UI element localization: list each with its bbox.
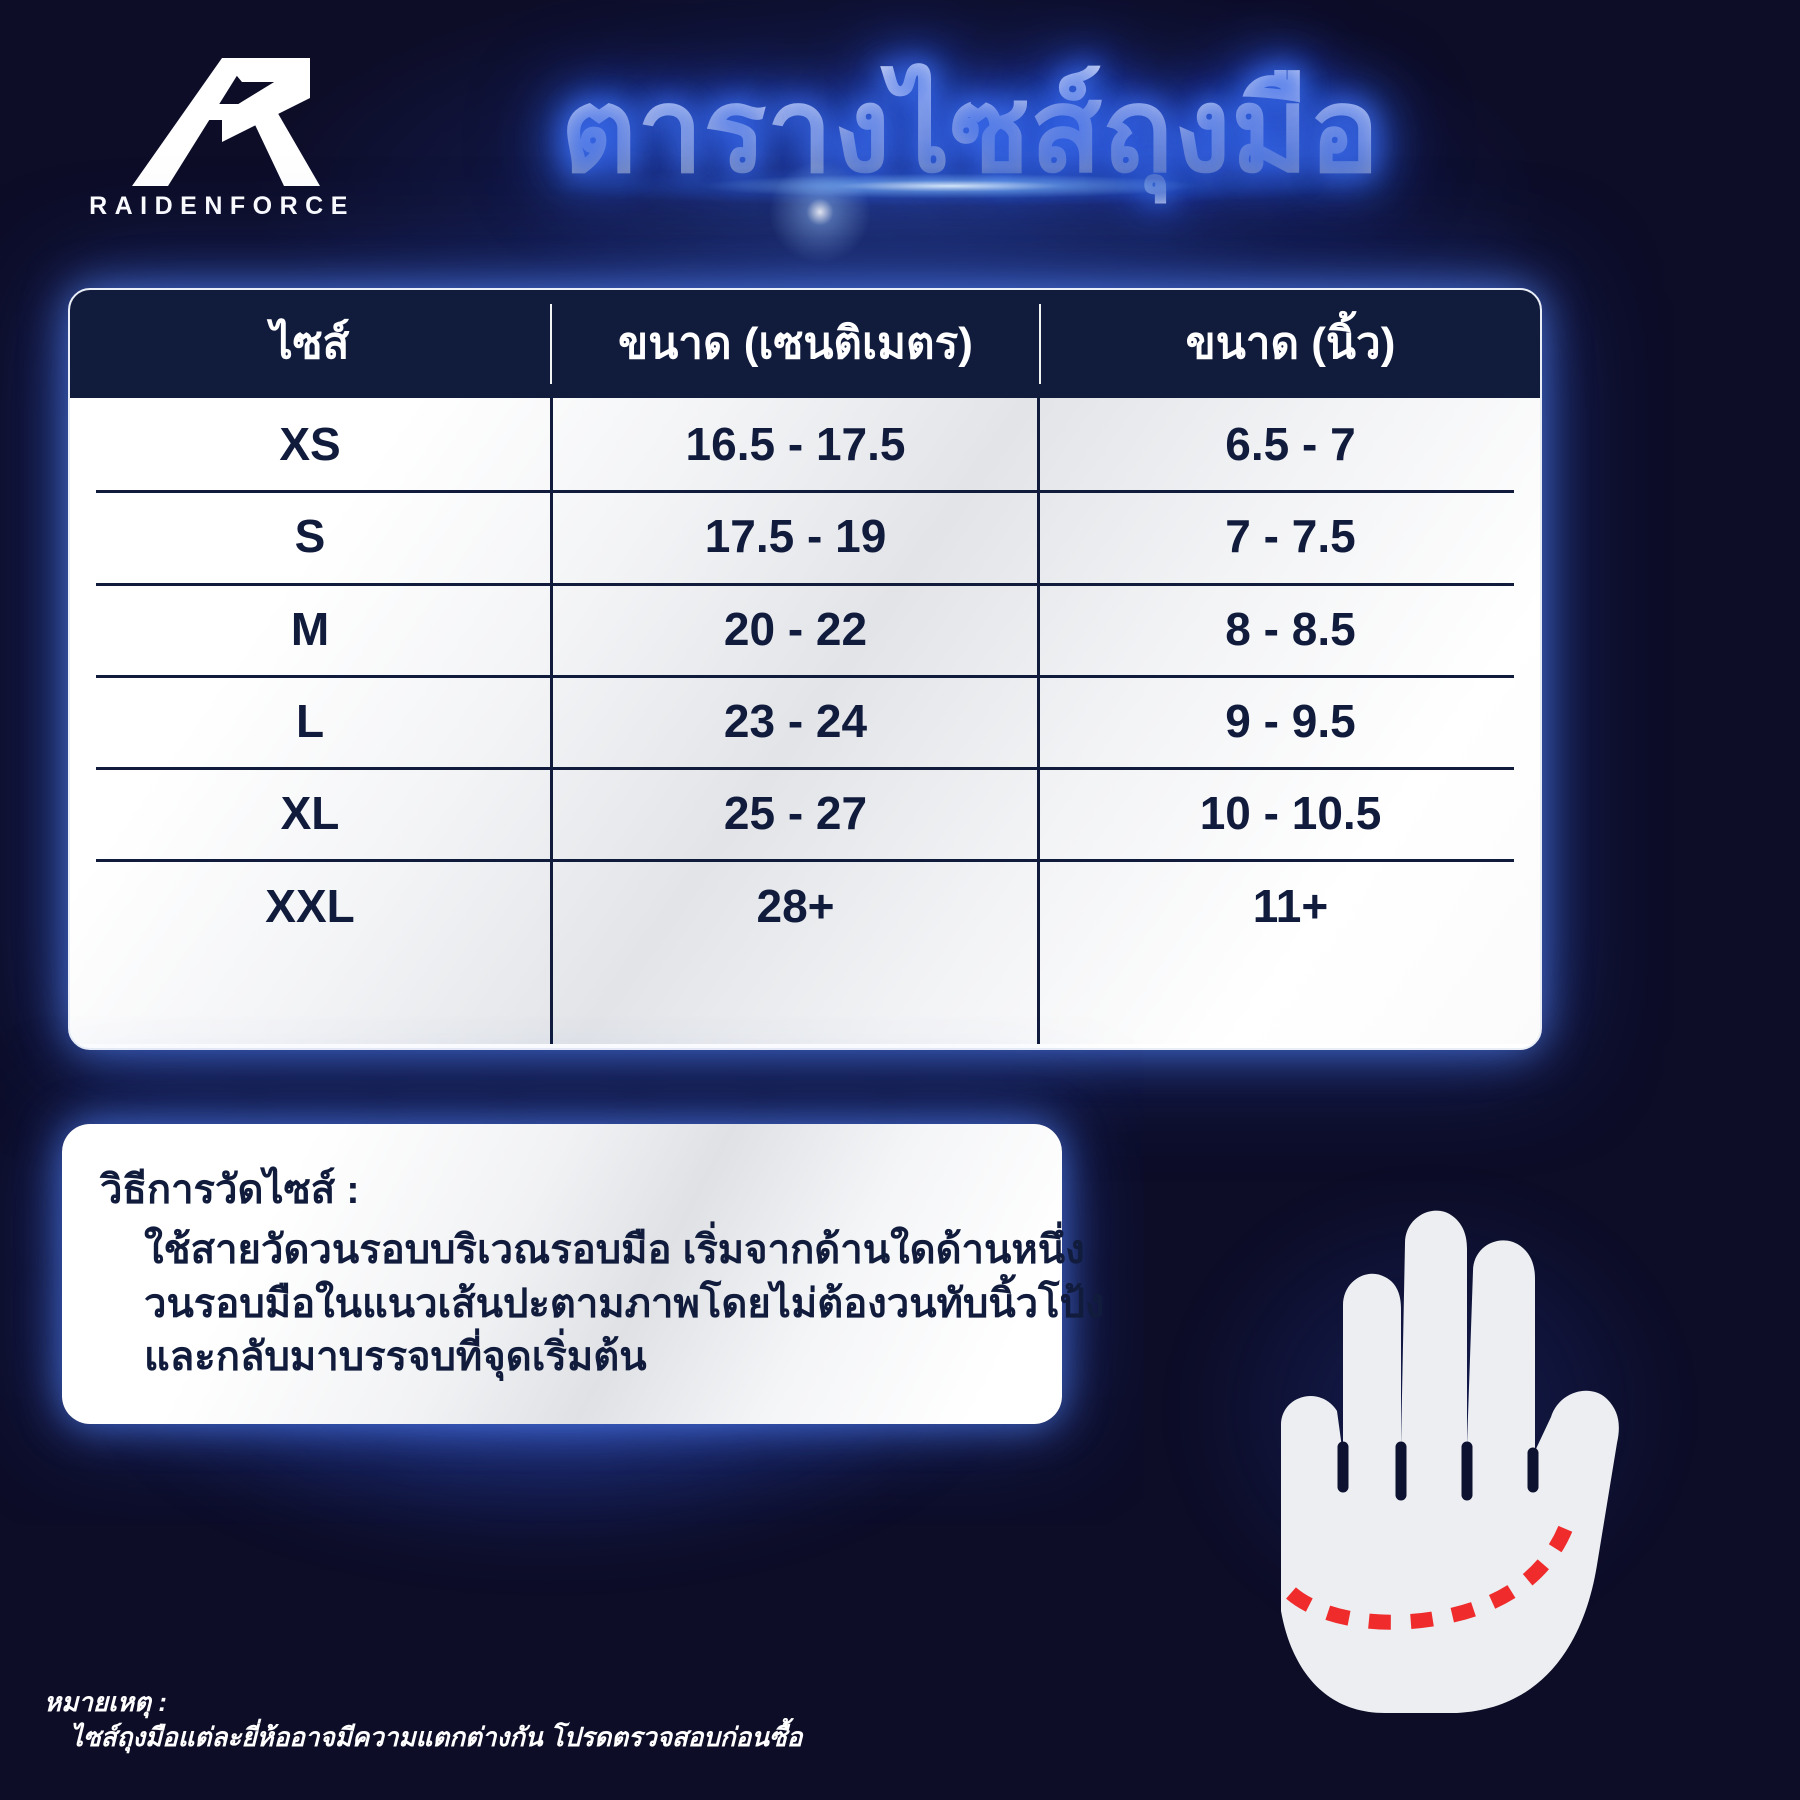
- how-to-measure-box: วิธีการวัดไซส์ : ใช้สายวัดวนรอบบริเวณรอบ…: [62, 1124, 1062, 1424]
- table-row: XL 25 - 27 10 - 10.5: [70, 767, 1540, 859]
- column-header-size: ไซส์: [70, 322, 550, 366]
- page-title-area: ตารางไซส์ถุงมือ: [430, 52, 1510, 237]
- cell-cm: 20 - 22: [552, 606, 1039, 652]
- column-header-inch: ขนาด (นิ้ว): [1041, 322, 1540, 366]
- table-row: XS 16.5 - 17.5 6.5 - 7: [70, 398, 1540, 490]
- cell-size: S: [70, 513, 550, 559]
- table-row: L 23 - 24 9 - 9.5: [70, 675, 1540, 767]
- cell-size: XL: [70, 790, 550, 836]
- raidenforce-a-r-monogram-icon: [72, 52, 372, 192]
- table-header-row: ไซส์ ขนาด (เซนติเมตร) ขนาด (นิ้ว): [70, 290, 1540, 398]
- cell-cm: 25 - 27: [552, 790, 1039, 836]
- cell-inch: 6.5 - 7: [1041, 421, 1540, 467]
- header-divider-1: [550, 304, 552, 384]
- table-row: S 17.5 - 19 7 - 7.5: [70, 490, 1540, 582]
- cell-cm: 17.5 - 19: [552, 513, 1039, 559]
- cell-cm: 28+: [552, 883, 1039, 929]
- how-to-measure-line-3: และกลับมาบรรจบที่จุดเริ่มต้น: [100, 1331, 1024, 1385]
- cell-size: M: [70, 606, 550, 652]
- hand-measure-illustration: [1085, 1095, 1775, 1715]
- cell-size: XXL: [70, 883, 550, 929]
- cell-inch: 9 - 9.5: [1041, 698, 1540, 744]
- cell-size: XS: [70, 421, 550, 467]
- cell-inch: 8 - 8.5: [1041, 606, 1540, 652]
- how-to-measure-line-1: ใช้สายวัดวนรอบบริเวณรอบมือ เริ่มจากด้านใ…: [100, 1224, 1024, 1278]
- table-body: XS 16.5 - 17.5 6.5 - 7 S 17.5 - 19 7 - 7…: [70, 398, 1540, 1044]
- hand-measure-icon: [1085, 1095, 1775, 1715]
- cell-size: L: [70, 698, 550, 744]
- how-to-measure-title: วิธีการวัดไซส์ :: [100, 1166, 1024, 1214]
- footnote: หมายเหตุ : ไซส์ถุงมือแต่ละยี่ห้ออาจมีควา…: [44, 1686, 1144, 1755]
- table-row: M 20 - 22 8 - 8.5: [70, 583, 1540, 675]
- size-chart-table: ไซส์ ขนาด (เซนติเมตร) ขนาด (นิ้ว) XS 16.…: [68, 288, 1542, 1050]
- cell-cm: 23 - 24: [552, 698, 1039, 744]
- footnote-title: หมายเหตุ :: [44, 1686, 1144, 1720]
- header-divider-2: [1039, 304, 1041, 384]
- brand-name: RAIDENFORCE: [72, 192, 372, 221]
- cell-inch: 10 - 10.5: [1041, 790, 1540, 836]
- how-to-measure-line-2: วนรอบมือในแนวเส้นปะตามภาพโดยไม่ต้องวนทับ…: [100, 1278, 1024, 1332]
- column-header-cm: ขนาด (เซนติเมตร): [552, 322, 1039, 366]
- page-title: ตารางไซส์ถุงมือ: [430, 52, 1510, 211]
- cell-inch: 11+: [1041, 883, 1540, 929]
- cell-cm: 16.5 - 17.5: [552, 421, 1039, 467]
- cell-inch: 7 - 7.5: [1041, 513, 1540, 559]
- table-row: XXL 28+ 11+: [70, 859, 1540, 951]
- brand-logo: RAIDENFORCE: [72, 52, 372, 232]
- footnote-body: ไซส์ถุงมือแต่ละยี่ห้ออาจมีความแตกต่างกัน…: [44, 1720, 1144, 1755]
